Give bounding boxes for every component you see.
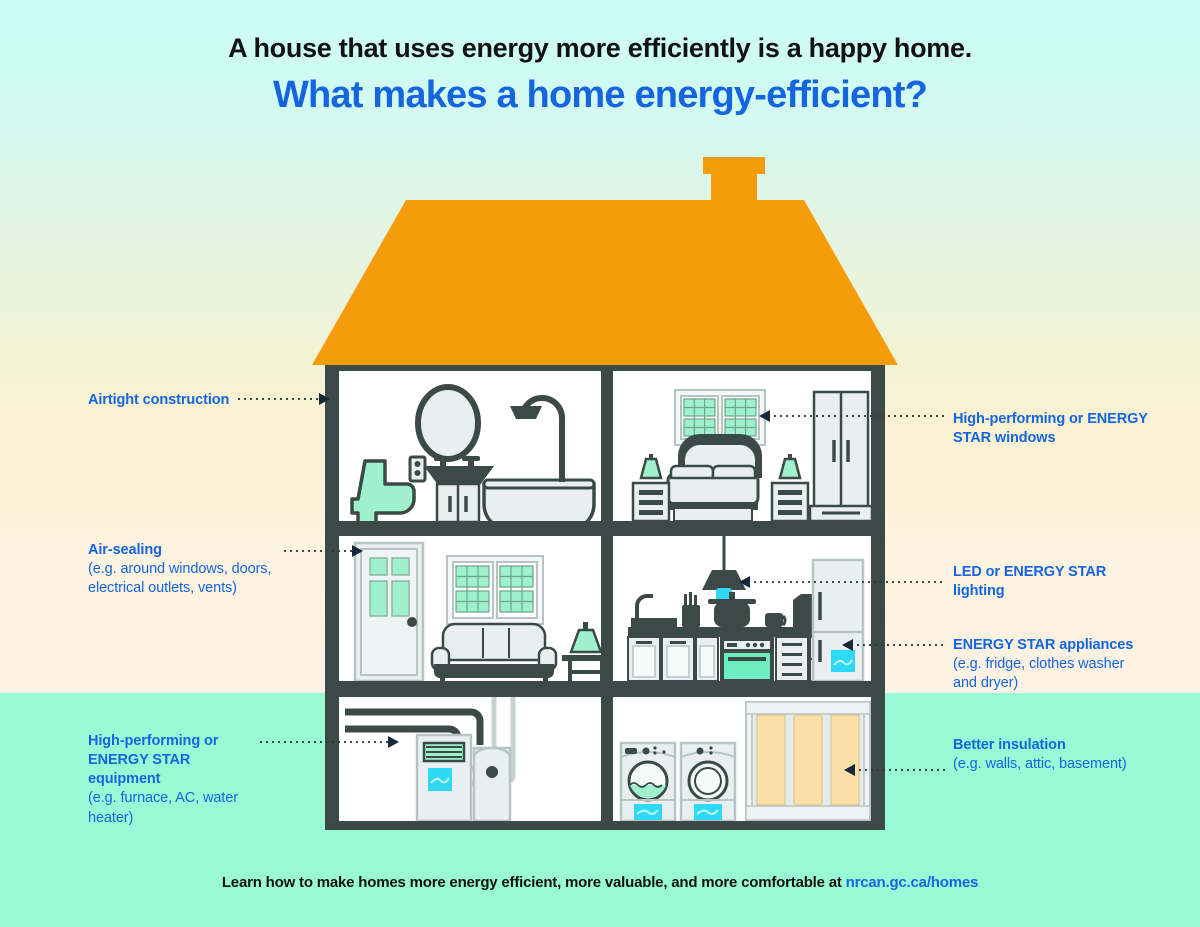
electrical-outlet [410, 457, 425, 481]
roof [312, 200, 898, 365]
infographic-canvas: A house that uses energy more efficientl… [0, 0, 1200, 927]
callout-air-sealing: Air-sealing (e.g. around windows, doors,… [88, 541, 288, 598]
kitchen-counter [628, 627, 828, 637]
bed [668, 434, 762, 521]
leader-lighting [740, 576, 945, 588]
nightstand-right [772, 483, 808, 521]
leader-airtight-construction [236, 393, 329, 405]
stove [720, 637, 774, 681]
window-living-room [447, 556, 543, 624]
callout-insulation: Better insulation (e.g. walls, attic, ba… [953, 736, 1148, 774]
callout-appliances: ENERGY STAR appliances (e.g. fridge, clo… [953, 636, 1143, 693]
leader-windows [760, 410, 944, 422]
furnace [417, 735, 471, 821]
nightstand-left [633, 483, 669, 521]
callout-windows: High-performing or ENERGY STAR windows [953, 410, 1148, 448]
washing-machine [621, 743, 675, 821]
chimney [703, 157, 765, 206]
callout-airtight-construction: Airtight construction [88, 391, 238, 410]
sofa [432, 624, 556, 682]
footer-cta: Learn how to make homes more energy effi… [0, 874, 1200, 891]
kitchen-cabinets [628, 637, 718, 681]
callout-equipment: High-performing or ENERGY STAR equipment… [88, 732, 263, 828]
leader-equipment [258, 736, 398, 748]
callout-lighting: LED or ENERGY STAR lighting [953, 563, 1118, 601]
water-heater [474, 748, 510, 821]
footer-url[interactable]: nrcan.gc.ca/homes [846, 874, 979, 891]
front-door [355, 543, 423, 681]
footer-text: Learn how to make homes more energy effi… [222, 874, 842, 891]
mug [765, 613, 785, 627]
leader-air-sealing [282, 545, 362, 557]
insulation-wall [746, 702, 870, 820]
leader-appliances [843, 639, 945, 651]
clothes-dryer [681, 743, 735, 821]
leader-insulation [845, 764, 945, 776]
mirror [418, 387, 478, 459]
